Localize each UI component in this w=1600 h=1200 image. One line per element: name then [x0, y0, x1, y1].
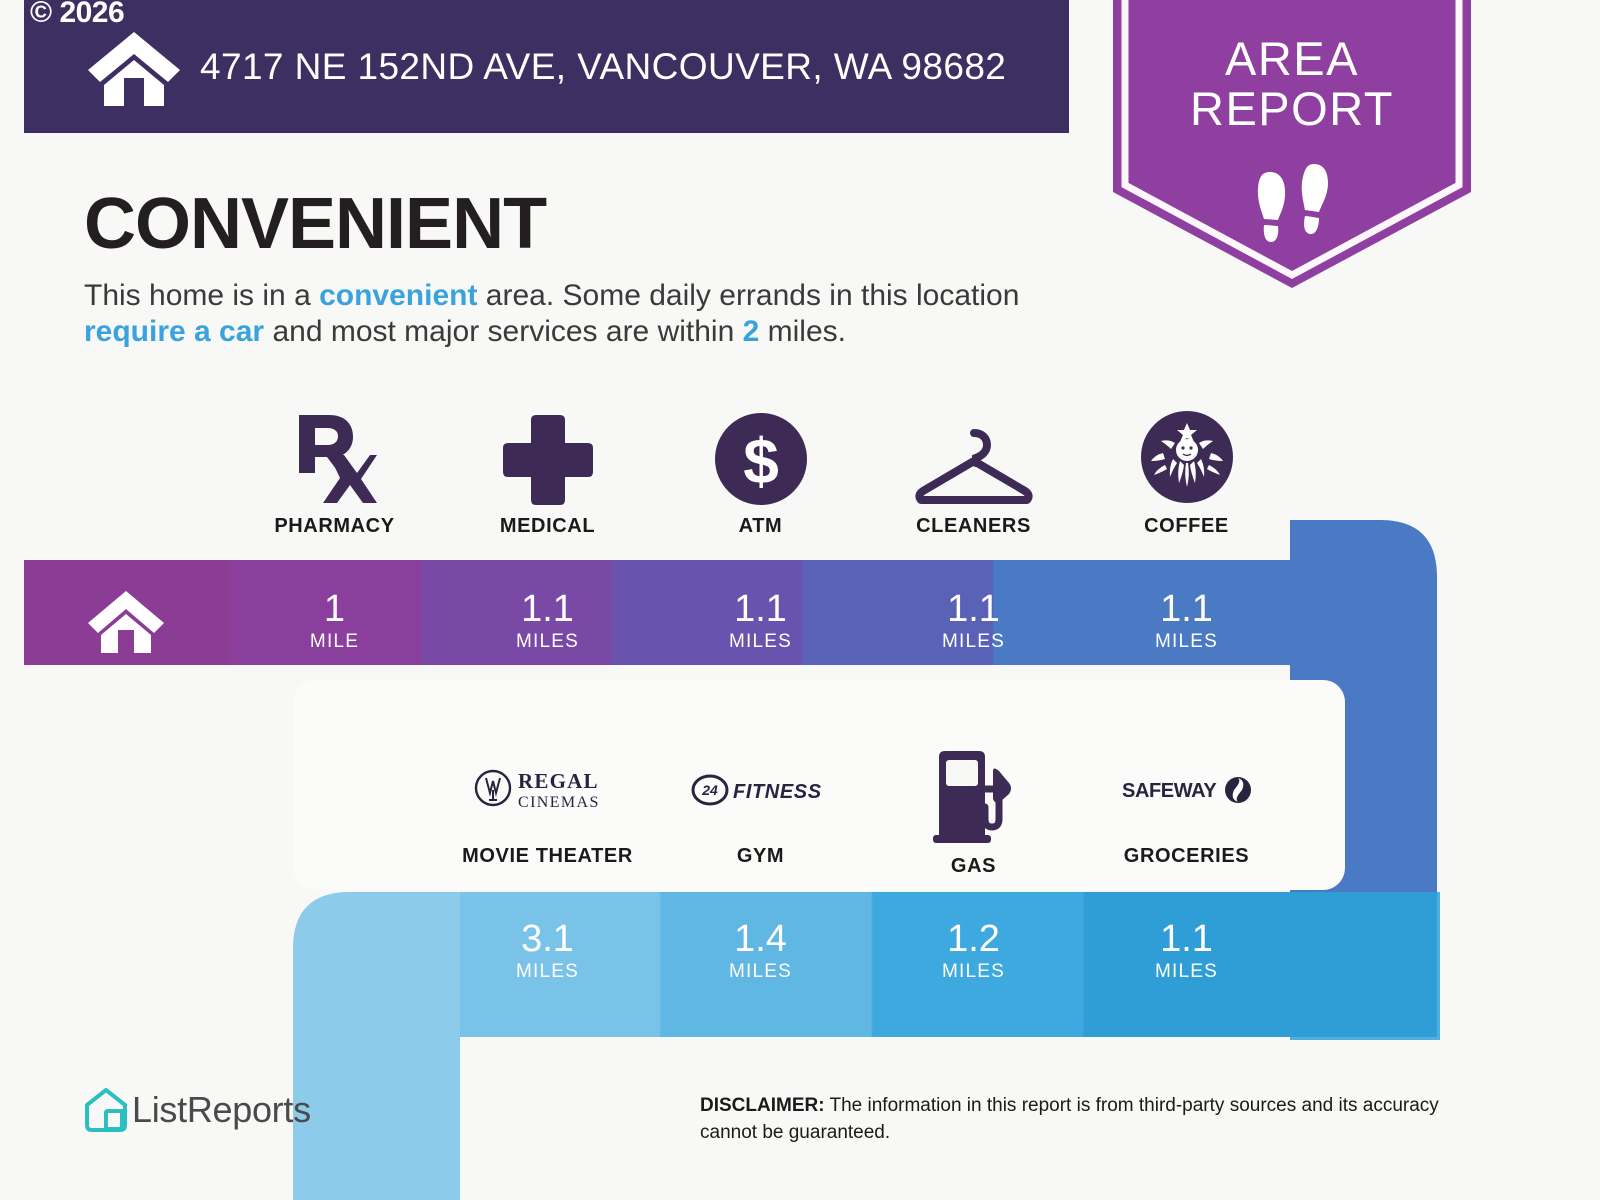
home-cell — [24, 568, 228, 673]
distance-cell-medical: 1.1 MILES — [441, 568, 654, 673]
regal-cinemas-logo: REGAL CINEMAS — [441, 745, 654, 835]
page-title: CONVENIENT — [84, 183, 546, 265]
category-coffee: COFFEE — [1080, 405, 1293, 538]
hanger-icon — [867, 405, 1080, 505]
distance-unit: MILES — [516, 961, 579, 983]
starbucks-logo — [1080, 405, 1293, 505]
distance-cell-movie-theater: 3.1 MILES — [441, 898, 654, 1003]
category-label: ATM — [654, 515, 867, 538]
distance-value: 1.4 — [734, 919, 787, 959]
distance-value: 1.1 — [734, 589, 787, 629]
distance-unit: MILES — [1155, 961, 1218, 983]
category-label: GYM — [654, 845, 867, 868]
area-report-page: © 2026 4717 NE 152ND AVE, VANCOUVER, WA … — [0, 0, 1600, 1200]
distance-cell-gym: 1.4 MILES — [654, 898, 867, 1003]
category-medical: MEDICAL — [441, 405, 654, 538]
category-label: COFFEE — [1080, 515, 1293, 538]
category-cleaners: CLEANERS — [867, 405, 1080, 538]
svg-text:SAFEWAY: SAFEWAY — [1122, 780, 1217, 802]
listreports-logo[interactable]: ListReports — [84, 1087, 334, 1139]
desc-part-3: and most major services are within — [264, 315, 743, 348]
row2-distance-cells: 3.1 MILES 1.4 MILES 1.2 MILES 1.1 MILES — [0, 898, 1600, 1003]
disclaimer: DISCLAIMER: The information in this repo… — [700, 1092, 1500, 1146]
home-icon — [86, 30, 182, 106]
svg-text:REGAL: REGAL — [518, 769, 599, 793]
svg-text:24: 24 — [701, 782, 718, 798]
distance-value: 1 — [324, 589, 345, 629]
category-groceries: SAFEWAY GROCERIES — [1080, 745, 1293, 868]
property-address: 4717 NE 152ND AVE, VANCOUVER, WA 98682 — [200, 46, 1006, 88]
category-label: MOVIE THEATER — [441, 845, 654, 868]
distance-unit: MILES — [729, 961, 792, 983]
header-bar: © 2026 4717 NE 152ND AVE, VANCOUVER, WA … — [24, 0, 1069, 133]
distance-value: 3.1 — [521, 919, 574, 959]
desc-highlight-2: require a car — [84, 315, 264, 348]
distance-cell-pharmacy: 1 MILE — [228, 568, 441, 673]
category-label: GROCERIES — [1080, 845, 1293, 868]
distance-value: 1.1 — [521, 589, 574, 629]
safeway-logo: SAFEWAY — [1080, 745, 1293, 835]
listreports-house-tag-icon — [84, 1087, 128, 1133]
svg-text:CINEMAS: CINEMAS — [518, 794, 600, 811]
footprints-icon — [1248, 162, 1340, 248]
desc-highlight-3: 2 — [743, 315, 760, 348]
distance-value: 1.2 — [947, 919, 1000, 959]
category-label: CLEANERS — [867, 515, 1080, 538]
disclaimer-label: DISCLAIMER: — [700, 1095, 825, 1116]
category-atm: $ ATM — [654, 405, 867, 538]
svg-text:FITNESS: FITNESS — [733, 781, 822, 803]
distance-cell-atm: 1.1 MILES — [654, 568, 867, 673]
row1-labels: PHARMACY MEDICAL $ ATM — [0, 405, 1600, 560]
desc-part-4: miles. — [759, 315, 846, 348]
description-text: This home is in a convenient area. Some … — [84, 278, 1094, 350]
distance-cell-gas: 1.2 MILES — [867, 898, 1080, 1003]
distance-unit: MILE — [310, 631, 359, 653]
category-movie-theater: REGAL CINEMAS MOVIE THEATER — [441, 745, 654, 868]
home-icon — [86, 589, 166, 653]
listreports-wordmark: ListReports — [132, 1089, 311, 1131]
distance-cell-groceries: 1.1 MILES — [1080, 898, 1293, 1003]
distance-cell-coffee: 1.1 MILES — [1080, 568, 1293, 673]
desc-part-2: area. Some daily errands in this locatio… — [477, 279, 1019, 312]
distance-unit: MILES — [942, 631, 1005, 653]
svg-text:$: $ — [743, 425, 779, 497]
category-label: MEDICAL — [441, 515, 654, 538]
category-label: GAS — [867, 855, 1080, 878]
category-label: PHARMACY — [228, 515, 441, 538]
distance-unit: MILES — [1155, 631, 1218, 653]
desc-highlight-1: convenient — [319, 279, 477, 312]
category-pharmacy: PHARMACY — [228, 405, 441, 538]
copyright-label: © 2026 — [30, 0, 124, 30]
row1-distance-cells: 1 MILE 1.1 MILES 1.1 MILES 1.1 MILES 1.1… — [0, 568, 1600, 673]
gas-pump-icon — [867, 745, 1080, 845]
dollar-circle-icon: $ — [654, 405, 867, 505]
distance-value: 1.1 — [1160, 589, 1213, 629]
distance-cell-cleaners: 1.1 MILES — [867, 568, 1080, 673]
distance-value: 1.1 — [947, 589, 1000, 629]
category-gas: GAS — [867, 745, 1080, 878]
distance-value: 1.1 — [1160, 919, 1213, 959]
distance-unit: MILES — [729, 631, 792, 653]
category-gym: 24 FITNESS GYM — [654, 745, 867, 868]
distance-unit: MILES — [516, 631, 579, 653]
row2-labels: REGAL CINEMAS MOVIE THEATER 24 FITNESS G… — [0, 745, 1600, 885]
rx-icon — [228, 405, 441, 505]
24-hour-fitness-logo: 24 FITNESS — [654, 745, 867, 835]
distance-unit: MILES — [942, 961, 1005, 983]
medical-cross-icon — [441, 405, 654, 505]
desc-part-1: This home is in a — [84, 279, 319, 312]
